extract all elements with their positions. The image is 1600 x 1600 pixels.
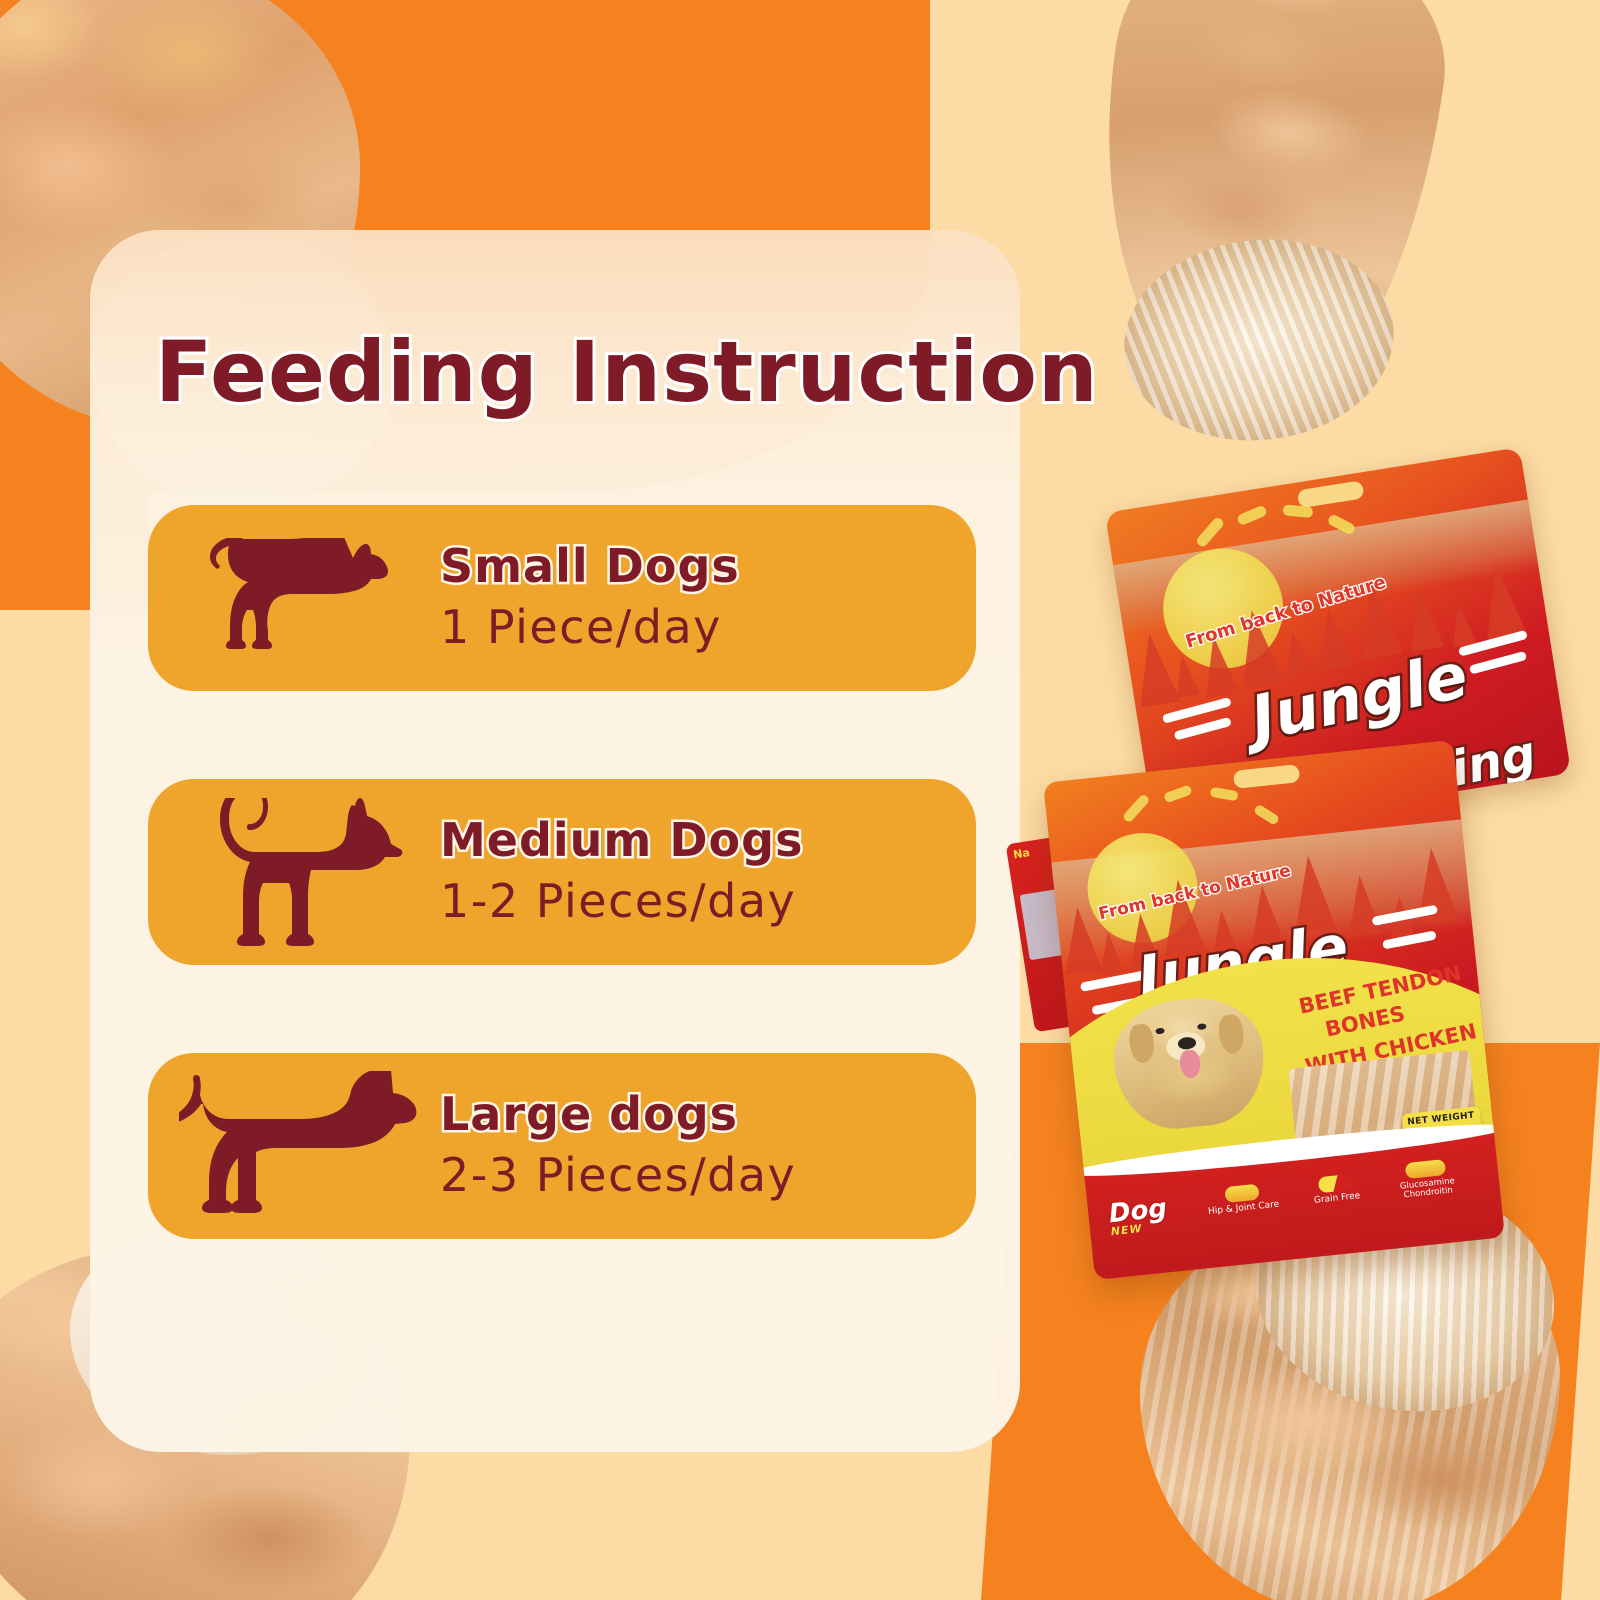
decorative-dash: [1173, 717, 1231, 741]
feeding-row-small-dogs-text: Small Dogs 1 Piece/day: [440, 542, 740, 653]
feature-grain-free-label: Grain Free: [1298, 1190, 1377, 1208]
page-title: Feeding Instruction: [155, 330, 1099, 414]
feeding-row-large-dogs-amount: 2-3 Pieces/day: [440, 1149, 796, 1202]
feeding-row-medium-dogs[interactable]: Medium Dogs 1-2 Pieces/day: [148, 779, 976, 965]
package-hang-hole-icon: [1232, 764, 1300, 789]
decorative-dash: [1469, 650, 1527, 674]
feeding-row-large-dogs-text: Large dogs 2-3 Pieces/day: [440, 1090, 796, 1201]
feeding-row-medium-dogs-text: Medium Dogs 1-2 Pieces/day: [440, 816, 803, 927]
pine-tree-icon: [1312, 605, 1355, 670]
sun-ray-icon: [1122, 793, 1151, 823]
feeding-row-small-dogs[interactable]: Small Dogs 1 Piece/day: [148, 505, 976, 691]
feeding-row-small-dogs-amount: 1 Piece/day: [440, 601, 740, 654]
feature-hip-joint-care-label: Hip & Joint Care: [1195, 1199, 1291, 1218]
sun-ray-icon: [1283, 504, 1314, 518]
hip-joint-icon: [1224, 1183, 1259, 1202]
sun-ray-icon: [1163, 784, 1193, 803]
sun-ray-icon: [1236, 504, 1268, 526]
feeding-row-medium-dogs-title: Medium Dogs: [440, 816, 803, 864]
pine-tree-icon: [1281, 628, 1311, 673]
glucosamine-icon: [1405, 1159, 1446, 1179]
infographic-canvas: Feeding Instruction Small Dogs 1 Piece/d…: [0, 0, 1600, 1600]
large-dog-silhouette-icon: [148, 1053, 448, 1239]
feature-grain-free: Grain Free: [1296, 1171, 1377, 1207]
dog-brand-logo: Dog NEW: [1107, 1193, 1169, 1238]
grain-free-icon: [1318, 1174, 1353, 1193]
small-dog-silhouette-icon: [148, 505, 448, 691]
feature-glucosamine: Glucosamine Chondroitin: [1373, 1156, 1480, 1204]
sun-ray-icon: [1195, 515, 1226, 548]
pine-tree-icon: [1096, 931, 1124, 975]
sun-ray-icon: [1253, 804, 1280, 826]
feeding-row-medium-dogs-amount: 1-2 Pieces/day: [440, 875, 803, 928]
feeding-row-large-dogs[interactable]: Large dogs 2-3 Pieces/day: [148, 1053, 976, 1239]
feeding-row-small-dogs-title: Small Dogs: [440, 542, 740, 590]
feeding-row-large-dogs-title: Large dogs: [440, 1090, 796, 1138]
sun-ray-icon: [1209, 787, 1238, 802]
product-package-front: From back to Nature Jungle Calling BEEF …: [1043, 740, 1505, 1280]
pine-tree-icon: [1343, 874, 1383, 937]
medium-dog-silhouette-icon: [148, 779, 448, 965]
package-hang-hole-icon: [1297, 480, 1365, 508]
feature-hip-joint-care: Hip & Joint Care: [1194, 1180, 1292, 1218]
feature-glucosamine-label: Glucosamine Chondroitin: [1375, 1175, 1480, 1204]
